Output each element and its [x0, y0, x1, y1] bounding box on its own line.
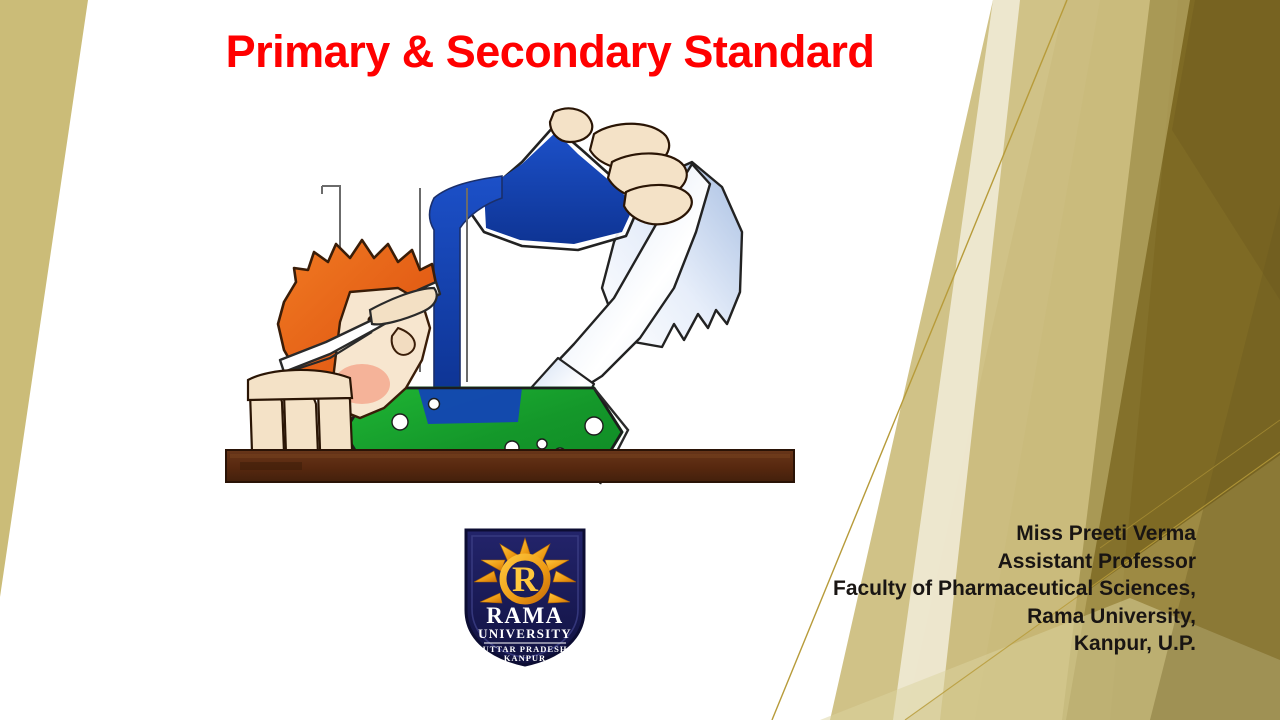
- logo-name-line2: UNIVERSITY: [478, 626, 572, 641]
- author-name: Miss Preeti Verma: [576, 520, 1196, 548]
- author-designation: Assistant Professor: [576, 548, 1196, 576]
- slide-title: Primary & Secondary Standard: [150, 28, 950, 75]
- author-institution: Rama University,: [576, 603, 1196, 631]
- logo-name-line1: RAMA: [486, 603, 564, 628]
- presentation-slide: Primary & Secondary Standard: [0, 0, 1280, 720]
- logo-monogram: R: [512, 559, 539, 599]
- logo-name-line4: KANPUR: [504, 653, 546, 663]
- table-surface: [226, 450, 794, 482]
- chemistry-experiment-cartoon: [222, 92, 798, 492]
- author-location: Kanpur, U.P.: [576, 630, 1196, 658]
- author-faculty: Faculty of Pharmaceutical Sciences,: [576, 575, 1196, 603]
- left-gold-wedge: [0, 0, 88, 597]
- author-credit-block: Miss Preeti Verma Assistant Professor Fa…: [576, 520, 1196, 658]
